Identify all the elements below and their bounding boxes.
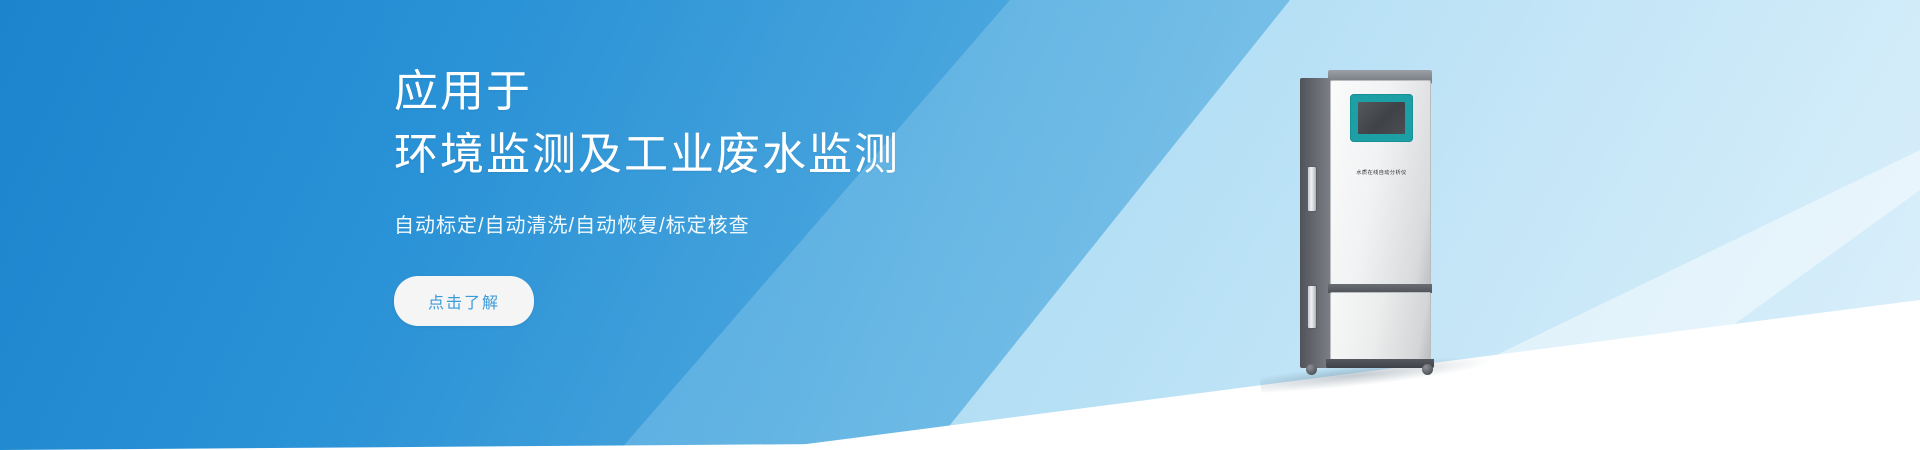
device-label-text: 水质在线自动分析仪 [1331,169,1432,176]
display-screen [1358,102,1405,134]
page-title: 应用于 环境监测及工业废水监测 [394,60,1094,186]
cabinet-base [1326,359,1434,368]
product-image-water-quality-analyzer: 水质在线自动分析仪 [1300,70,1450,375]
banner-subtitle: 自动标定/自动清洗/自动恢复/标定核查 [394,212,1094,240]
headline-line-1: 应用于 [394,67,532,116]
learn-more-button[interactable]: 点击了解 [394,276,534,326]
hero-banner: 应用于 环境监测及工业废水监测 自动标定/自动清洗/自动恢复/标定核查 点击了解… [0,0,1920,450]
cabinet-upper-handle-icon [1307,166,1317,212]
cabinet-lower-door [1330,292,1431,360]
cabinet-upper-door: 水质在线自动分析仪 [1330,80,1431,285]
cabinet-wheel-right-icon [1422,364,1433,375]
cabinet-wheel-left-icon [1306,364,1317,375]
cabinet-left-side-panel [1300,78,1330,368]
cabinet-lower-handle-icon [1307,285,1317,329]
banner-copy-block: 应用于 环境监测及工业废水监测 自动标定/自动清洗/自动恢复/标定核查 点击了解 [394,60,1094,326]
headline-line-2: 环境监测及工业废水监测 [394,123,1094,186]
display-bezel [1350,94,1413,142]
